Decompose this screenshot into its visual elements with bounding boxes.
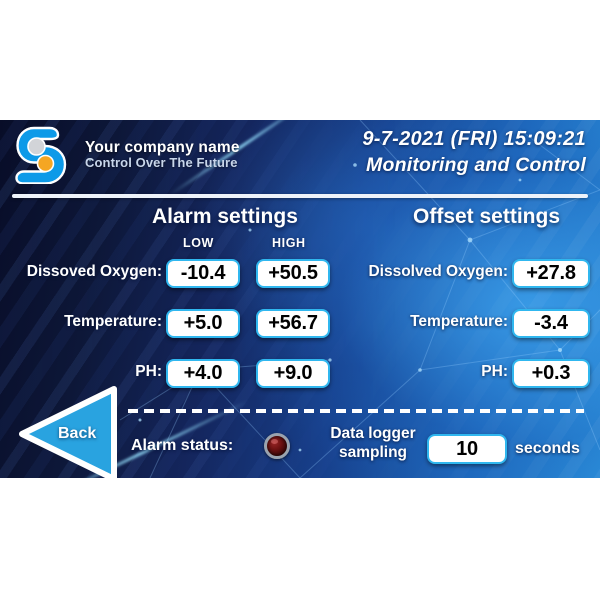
- s-logo-icon: [14, 126, 76, 184]
- offset-field-temperature[interactable]: -3.4: [512, 309, 590, 338]
- datetime-display: 9-7-2021 (FRI) 15:09:21: [362, 128, 586, 151]
- left-triangle-icon: [16, 385, 120, 478]
- column-header-low: LOW: [183, 236, 214, 250]
- offset-row-label-temperature: Temperature:: [330, 313, 508, 331]
- data-logger-label-line1: Data logger: [330, 425, 415, 442]
- alarm-settings-title: Alarm settings: [152, 205, 298, 229]
- alarm-low-field-temperature[interactable]: +5.0: [166, 309, 240, 338]
- company-logo-block: Your company name Control Over The Futur…: [14, 126, 240, 184]
- offset-settings-title: Offset settings: [413, 205, 560, 229]
- company-name: Your company name: [85, 139, 240, 156]
- offset-row-label-ph: PH:: [330, 363, 508, 381]
- alarm-high-field-ph[interactable]: +9.0: [256, 359, 330, 388]
- header-divider: [12, 194, 588, 198]
- offset-field-dissolved-oxygen[interactable]: +27.8: [512, 259, 590, 288]
- data-logger-sampling-label: Data logger sampling: [318, 425, 428, 463]
- screen-subtitle: Monitoring and Control: [362, 154, 586, 177]
- alarm-low-field-dissolved-oxygen[interactable]: -10.4: [166, 259, 240, 288]
- column-header-high: HIGH: [272, 236, 306, 250]
- footer-dashed-divider: [128, 409, 584, 413]
- alarm-high-field-dissolved-oxygen[interactable]: +50.5: [256, 259, 330, 288]
- company-text-block: Your company name Control Over The Futur…: [85, 139, 240, 171]
- alarm-row-label-dissolved-oxygen: Dissoved Oxygen:: [0, 263, 162, 281]
- offset-field-ph[interactable]: +0.3: [512, 359, 590, 388]
- header-right-block: 9-7-2021 (FRI) 15:09:21 Monitoring and C…: [362, 128, 586, 177]
- alarm-high-field-temperature[interactable]: +56.7: [256, 309, 330, 338]
- hmi-screen-viewport: Your company name Control Over The Futur…: [0, 120, 600, 478]
- alarm-low-field-ph[interactable]: +4.0: [166, 359, 240, 388]
- alarm-status-led-indicator: [264, 433, 290, 459]
- alarm-status-label: Alarm status:: [131, 437, 233, 455]
- offset-row-label-dissolved-oxygen: Dissolved Oxygen:: [330, 263, 508, 281]
- header-bar: Your company name Control Over The Futur…: [0, 120, 600, 196]
- company-tagline: Control Over The Future: [85, 156, 240, 171]
- data-logger-label-line2: sampling: [339, 444, 407, 461]
- alarm-row-label-ph: PH:: [0, 363, 162, 381]
- hmi-screen: Your company name Control Over The Futur…: [0, 120, 600, 478]
- data-logger-unit-label: seconds: [515, 440, 580, 458]
- back-button[interactable]: Back: [16, 385, 120, 478]
- alarm-row-label-temperature: Temperature:: [0, 313, 162, 331]
- data-logger-sampling-field[interactable]: 10: [427, 434, 507, 464]
